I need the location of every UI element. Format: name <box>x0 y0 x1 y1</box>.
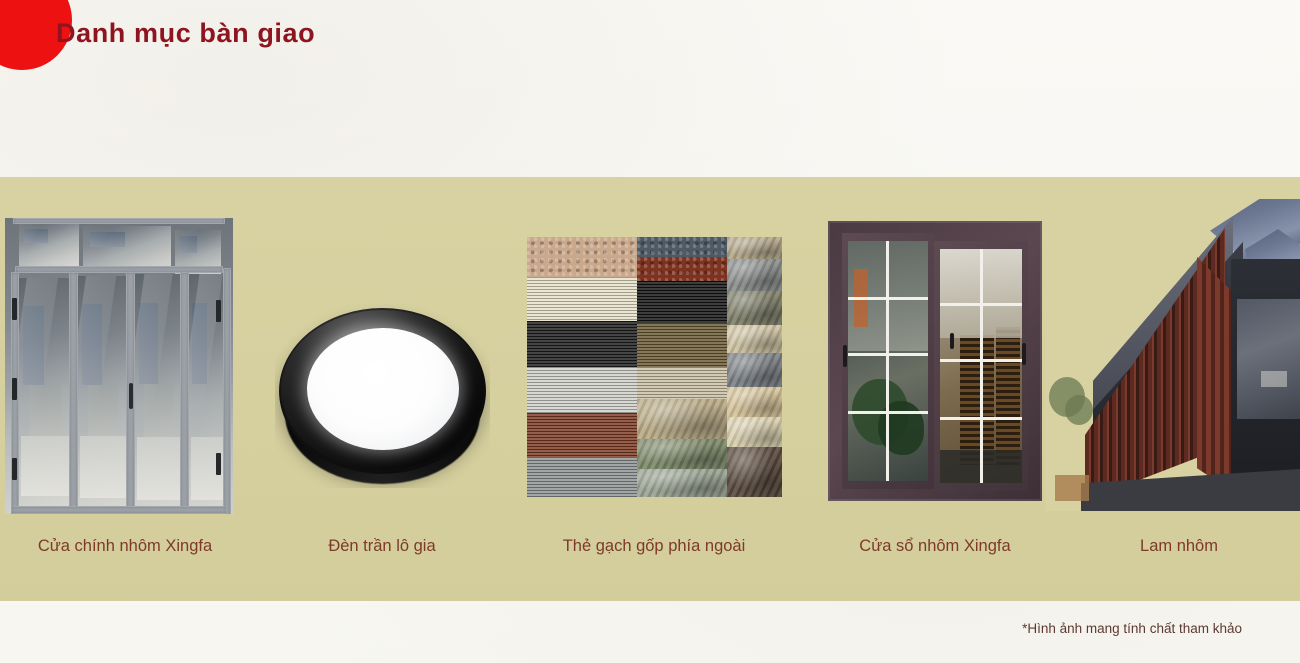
window-grille-horizontal <box>848 411 928 414</box>
tile-sample <box>637 237 727 257</box>
facade-glass-highlight <box>1261 371 1287 387</box>
door-handle <box>129 383 133 409</box>
tile-sample <box>727 259 782 291</box>
tile-sample <box>637 281 727 323</box>
window-grille-horizontal <box>940 359 1022 362</box>
facade-tree <box>1065 395 1093 425</box>
caption-the-gach-gop-phia-ngoai: Thẻ gạch gốp phía ngoài <box>520 537 788 556</box>
tile-sample <box>527 277 637 321</box>
tile-sample <box>637 399 727 439</box>
page-title: Danh mục bàn giao <box>56 18 315 49</box>
tile-sample <box>527 237 637 277</box>
window-grille-horizontal <box>940 303 1022 306</box>
door-hinge <box>216 453 221 475</box>
window-grille-horizontal <box>848 297 928 300</box>
tile-sample <box>637 257 727 281</box>
door-hinge <box>216 300 221 322</box>
window-grille-horizontal <box>848 353 928 356</box>
tile-sample <box>727 353 782 387</box>
tile-sample <box>527 413 637 457</box>
window-handle-left <box>843 345 847 367</box>
window-grille-horizontal <box>940 417 1022 420</box>
footnote-reference-image: *Hình ảnh mang tính chất tham khảo <box>1022 621 1242 636</box>
window-grille-vertical <box>980 249 983 483</box>
image-aluminium-sliding-window <box>828 221 1042 501</box>
image-aluminium-main-door <box>5 218 233 514</box>
door-hinge <box>12 458 17 480</box>
facade-foreground-object <box>1055 475 1089 501</box>
image-round-ceiling-light <box>275 302 490 488</box>
door-glass-panel <box>78 276 128 512</box>
facade-window-glazing <box>1237 299 1300 419</box>
tile-sample <box>527 367 637 413</box>
tile-sample <box>637 439 727 469</box>
door-stile <box>223 268 231 514</box>
window-lock <box>950 333 954 349</box>
door-stile <box>180 272 189 514</box>
tile-sample <box>727 447 782 497</box>
tile-sample <box>637 367 727 399</box>
door-stile <box>69 272 78 514</box>
tile-sample <box>637 469 727 497</box>
door-hinge <box>12 298 17 320</box>
window-handle-right <box>1022 343 1026 365</box>
tile-sample <box>527 457 637 497</box>
tile-sample <box>727 291 782 325</box>
door-glass-panel <box>189 274 227 514</box>
image-aluminium-louver-facade <box>1045 199 1300 511</box>
tile-sample <box>727 325 782 353</box>
door-hinge <box>12 378 17 400</box>
door-frame-bottom <box>11 506 227 514</box>
products-band: Cửa chính nhôm Xingfa Đèn trần lô gia <box>0 177 1300 601</box>
door-transom-pane <box>19 224 79 266</box>
caption-cua-chinh-nhom-xingfa: Cửa chính nhôm Xingfa <box>0 537 250 556</box>
tile-sample <box>727 387 782 417</box>
tile-sample <box>637 323 727 367</box>
caption-lam-nhom: Lam nhôm <box>1058 537 1300 556</box>
image-exterior-tile-samples <box>527 237 782 497</box>
caption-den-tran-lo-gia: Đèn trần lô gia <box>272 537 492 556</box>
tile-sample <box>527 321 637 367</box>
slide-root: Danh mục bàn giao <box>0 0 1300 663</box>
door-glass-panel <box>19 278 71 510</box>
door-glass-panel <box>135 274 182 514</box>
tile-sample <box>727 417 782 447</box>
window-grille-vertical <box>886 241 889 481</box>
light-diffuser <box>307 328 459 450</box>
tile-sample <box>727 237 782 259</box>
caption-cua-so-nhom-xingfa: Cửa sổ nhôm Xingfa <box>812 537 1058 556</box>
door-transom-rail <box>15 266 223 273</box>
